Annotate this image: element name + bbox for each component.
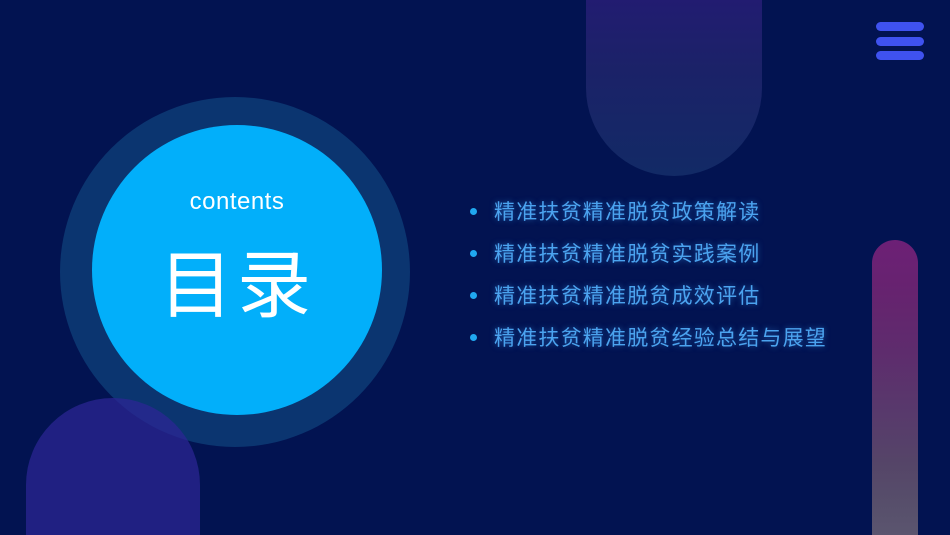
list-item[interactable]: 精准扶贫精准脱贫经验总结与展望	[470, 316, 920, 358]
list-item[interactable]: 精准扶贫精准脱贫实践案例	[470, 232, 920, 274]
list-item-label: 精准扶贫精准脱贫经验总结与展望	[494, 322, 827, 352]
hamburger-bar-top	[876, 22, 924, 31]
hamburger-bar-bottom	[876, 51, 924, 60]
bullet-icon	[470, 334, 477, 341]
bullet-icon	[470, 250, 477, 257]
hamburger-menu-icon[interactable]	[876, 18, 924, 64]
list-item[interactable]: 精准扶贫精准脱贫成效评估	[470, 274, 920, 316]
list-item-label: 精准扶贫精准脱贫实践案例	[494, 238, 760, 268]
bullet-icon	[470, 292, 477, 299]
bullet-icon	[470, 208, 477, 215]
top-gradient-pill-decoration	[586, 0, 762, 176]
list-item-label: 精准扶贫精准脱贫政策解读	[494, 196, 760, 226]
list-item-label: 精准扶贫精准脱贫成效评估	[494, 280, 760, 310]
slide-canvas: contents 目录 精准扶贫精准脱贫政策解读 精准扶贫精准脱贫实践案例 精准…	[0, 0, 950, 535]
hamburger-bar-middle	[876, 37, 924, 46]
contents-label: contents	[92, 190, 382, 214]
agenda-list: 精准扶贫精准脱贫政策解读 精准扶贫精准脱贫实践案例 精准扶贫精准脱贫成效评估 精…	[470, 190, 920, 358]
page-title: 目录	[92, 245, 382, 326]
list-item[interactable]: 精准扶贫精准脱贫政策解读	[470, 190, 920, 232]
